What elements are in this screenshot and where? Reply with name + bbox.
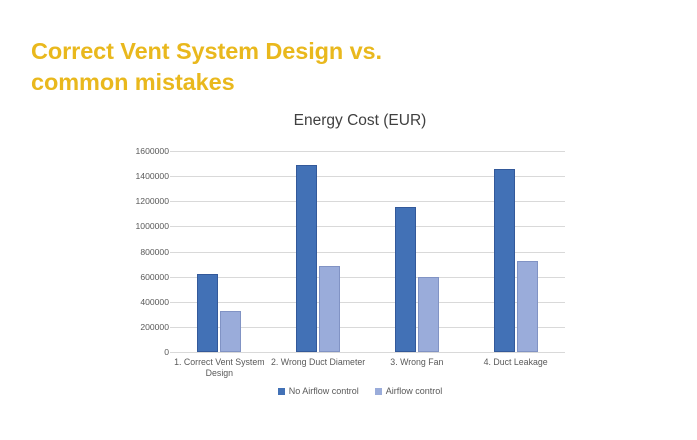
energy-cost-chart: Energy Cost (EUR) 1600000140000012000001… xyxy=(130,112,590,422)
y-axis-tick-label: 200000 xyxy=(49,322,169,332)
bar-1-2[interactable] xyxy=(220,311,241,352)
y-axis-tick-label: 1600000 xyxy=(49,146,169,156)
x-axis-label-4: 4. Duct Leakage xyxy=(466,357,565,368)
y-axis-tick-label: 1200000 xyxy=(49,196,169,206)
y-axis-tick-label: 400000 xyxy=(49,297,169,307)
bar-4-2[interactable] xyxy=(517,261,538,352)
bar-3-1[interactable] xyxy=(395,207,416,352)
legend-item-2[interactable]: Airflow control xyxy=(375,386,443,396)
bar-3-2[interactable] xyxy=(418,277,439,352)
legend-swatch-icon xyxy=(278,388,285,395)
y-axis-tick-label: 1400000 xyxy=(49,171,169,181)
legend-label: No Airflow control xyxy=(289,386,359,396)
bar-2-2[interactable] xyxy=(319,266,340,352)
x-axis-label-2: 2. Wrong Duct Diameter xyxy=(269,357,368,368)
slide-title: Correct Vent System Design vs. common mi… xyxy=(31,36,551,99)
bars-layer xyxy=(170,112,565,362)
y-axis-tick-label: 800000 xyxy=(49,247,169,257)
y-axis-tick-label: 600000 xyxy=(49,272,169,282)
x-axis-label-3: 3. Wrong Fan xyxy=(368,357,467,368)
bar-1-1[interactable] xyxy=(197,274,218,352)
y-axis-tick-label: 0 xyxy=(49,347,169,357)
chart-legend: No Airflow controlAirflow control xyxy=(130,386,590,396)
legend-item-1[interactable]: No Airflow control xyxy=(278,386,359,396)
x-axis-label-1: 1. Correct Vent System Design xyxy=(170,357,269,380)
legend-label: Airflow control xyxy=(386,386,443,396)
bar-2-1[interactable] xyxy=(296,165,317,352)
y-axis-tick-label: 1000000 xyxy=(49,221,169,231)
plot-area: 1600000140000012000001000000800000600000… xyxy=(130,112,590,362)
bar-4-1[interactable] xyxy=(494,169,515,352)
legend-swatch-icon xyxy=(375,388,382,395)
